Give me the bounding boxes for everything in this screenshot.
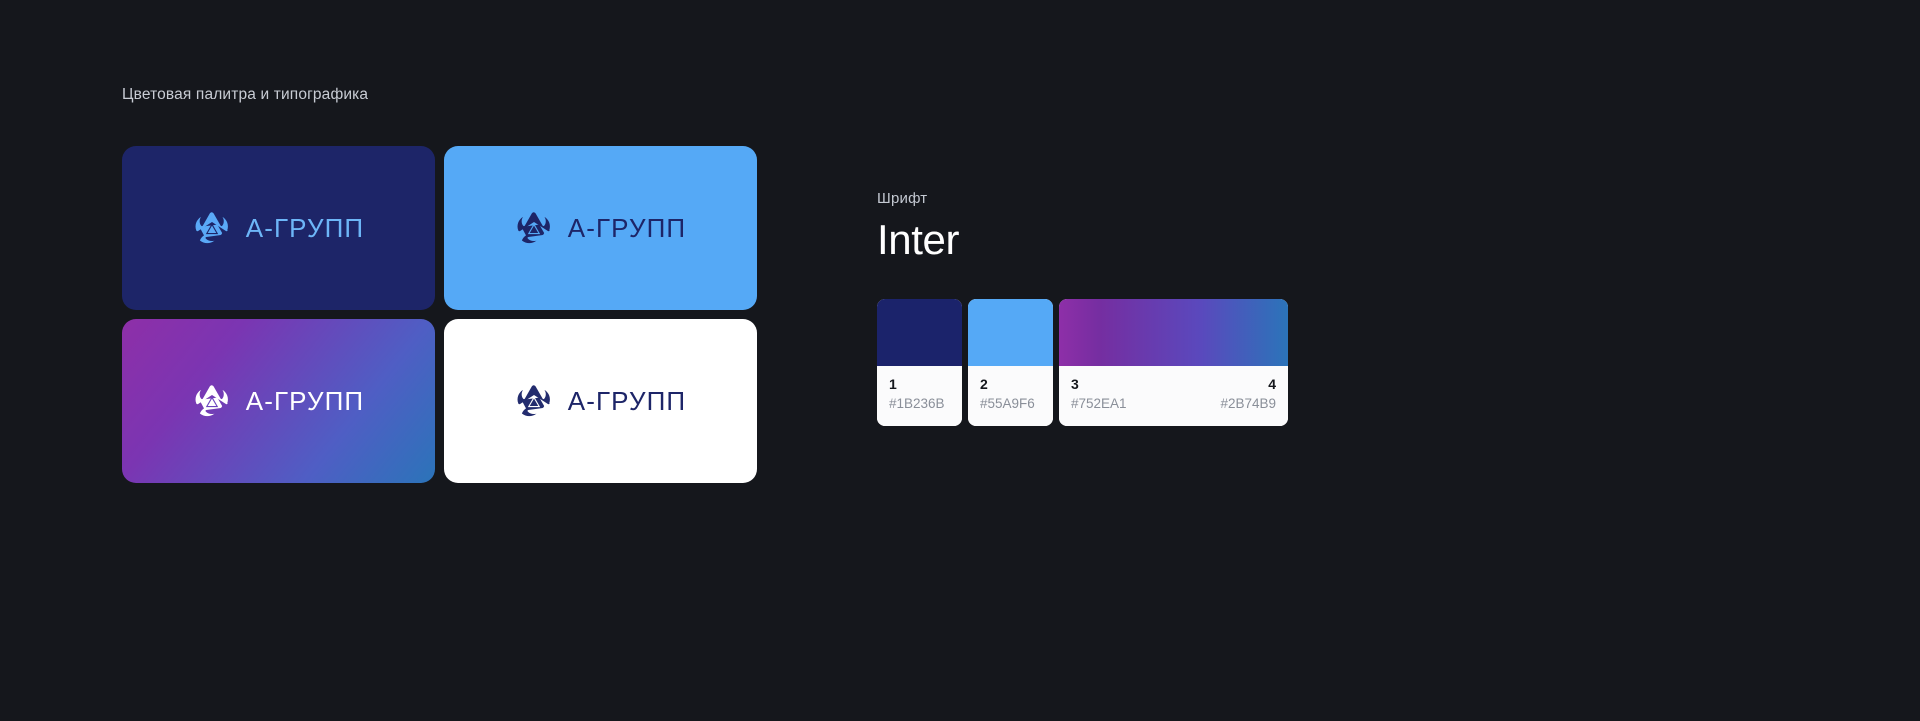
swatch-number: 1 <box>889 374 950 394</box>
logo-wordmark: А-ГРУПП <box>568 215 686 241</box>
logo-card-navy[interactable]: А-ГРУПП <box>122 146 435 310</box>
font-family-name: Inter <box>877 217 959 262</box>
logo-lockup: А-ГРУПП <box>193 382 364 420</box>
typography-block: Шрифт Inter <box>877 190 959 262</box>
color-swatch-1[interactable]: 1 #1B236B <box>877 299 962 426</box>
logo-card-grid: А-ГРУПП А-ГРУПП <box>122 146 757 486</box>
logo-card-sky[interactable]: А-ГРУПП <box>444 146 757 310</box>
color-palette: 1 #1B236B 2 #55A9F6 3 #752EA1 4 #2B74B9 <box>877 299 1288 426</box>
swatch-number: 2 <box>980 374 1041 394</box>
logo-card-white[interactable]: А-ГРУПП <box>444 319 757 483</box>
logo-wordmark: А-ГРУПП <box>246 215 364 241</box>
swatch-meta-gradient: 3 #752EA1 4 #2B74B9 <box>1059 366 1288 426</box>
logo-card-gradient[interactable]: А-ГРУПП <box>122 319 435 483</box>
swatch-chip-2 <box>968 299 1053 366</box>
swatch-meta-2: 2 #55A9F6 <box>968 366 1053 426</box>
swatch-meta-1: 1 #1B236B <box>877 366 962 426</box>
a-grupp-trefoil-logo-icon <box>193 209 231 247</box>
swatch-number: 3 <box>1071 374 1127 394</box>
logo-wordmark: А-ГРУПП <box>246 388 364 414</box>
color-swatch-gradient-3-4[interactable]: 3 #752EA1 4 #2B74B9 <box>1059 299 1288 426</box>
swatch-chip-gradient <box>1059 299 1288 366</box>
font-label: Шрифт <box>877 190 959 207</box>
swatch-hex: #752EA1 <box>1071 394 1127 414</box>
a-grupp-trefoil-logo-icon <box>515 382 553 420</box>
page-title: Цветовая палитра и типографика <box>122 86 368 104</box>
logo-wordmark: А-ГРУПП <box>568 388 686 414</box>
swatch-number: 4 <box>1268 374 1276 394</box>
a-grupp-trefoil-logo-icon <box>515 209 553 247</box>
logo-lockup: А-ГРУПП <box>515 209 686 247</box>
color-swatch-2[interactable]: 2 #55A9F6 <box>968 299 1053 426</box>
swatch-hex: #2B74B9 <box>1220 394 1276 414</box>
swatch-meta-3: 3 #752EA1 <box>1071 374 1127 415</box>
swatch-hex: #55A9F6 <box>980 394 1041 414</box>
swatch-meta-4: 4 #2B74B9 <box>1220 374 1276 415</box>
swatch-chip-1 <box>877 299 962 366</box>
a-grupp-trefoil-logo-icon <box>193 382 231 420</box>
logo-lockup: А-ГРУПП <box>193 209 364 247</box>
swatch-hex: #1B236B <box>889 394 950 414</box>
logo-lockup: А-ГРУПП <box>515 382 686 420</box>
